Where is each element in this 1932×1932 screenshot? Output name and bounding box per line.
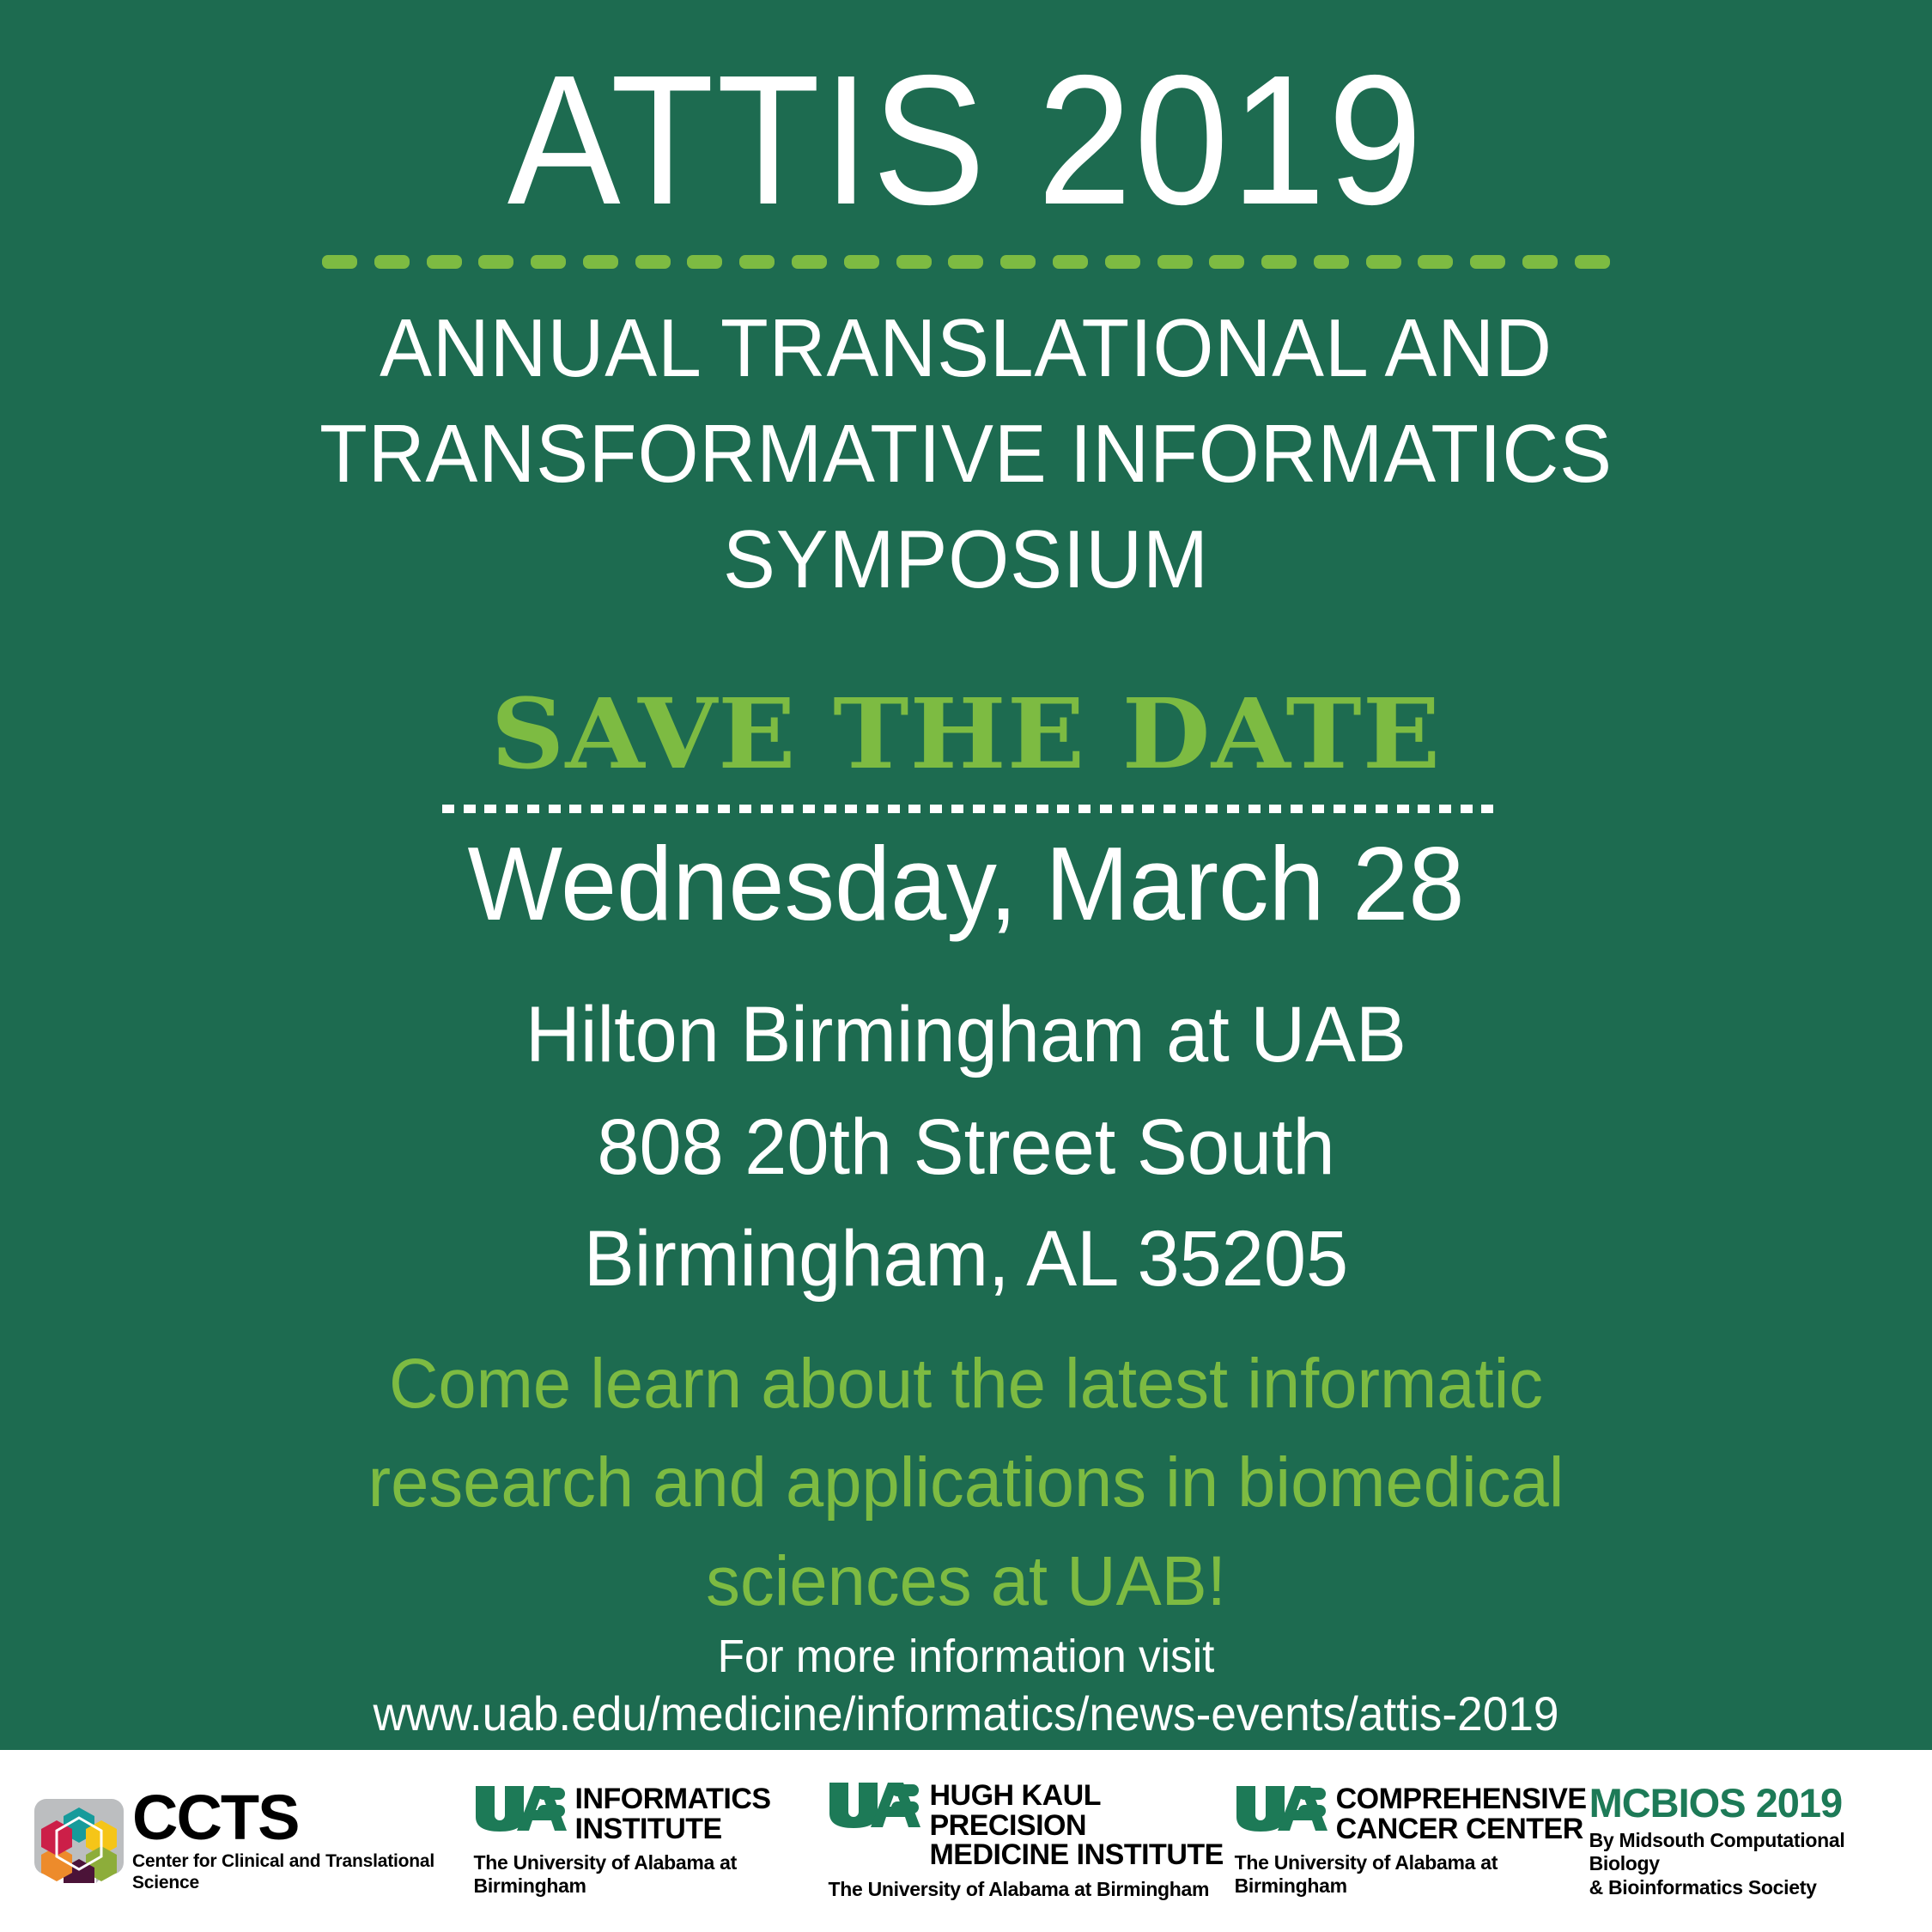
poster-green-panel: ATTIS 2019 ANNUAL TRANSLATIONAL AND TRAN… <box>0 0 1932 1750</box>
uab-hugh-kaul-name-line-1: HUGH KAUL PRECISION <box>929 1781 1234 1840</box>
save-the-date-poster: ATTIS 2019 ANNUAL TRANSLATIONAL AND TRAN… <box>0 0 1932 1932</box>
venue-street: 808 20th Street South <box>39 1091 1893 1204</box>
uab-wordmark-icon <box>1235 1784 1327 1832</box>
more-information-block: For more information visit www.uab.edu/m… <box>48 1630 1884 1746</box>
event-date: Wednesday, March 28 <box>39 829 1893 939</box>
uab-wordmark-icon <box>828 1781 920 1829</box>
event-subtitle: ANNUAL TRANSLATIONAL AND TRANSFORMATIVE … <box>48 296 1884 613</box>
save-the-date-dotted-divider <box>442 805 1494 813</box>
page-title: ATTIS 2019 <box>77 47 1855 232</box>
event-subtitle-line-1: ANNUAL TRANSLATIONAL AND <box>48 296 1884 402</box>
mcbios-title: MCBIOS 2019 <box>1589 1783 1898 1823</box>
logo-uab-comprehensive-cancer-center: COMPREHENSIVE CANCER CENTER The Universi… <box>1235 1784 1589 1898</box>
more-information-label: For more information visit <box>48 1630 1884 1683</box>
logo-mcbios: MCBIOS 2019 By Midsouth Computational Bi… <box>1589 1783 1898 1899</box>
ccts-tagline: Center for Clinical and Translational Sc… <box>132 1850 474 1893</box>
mcbios-subtitle-line-2: & Bioinformatics Society <box>1589 1876 1898 1899</box>
uab-cancer-center-name-line-2: CANCER CENTER <box>1336 1814 1587 1844</box>
uab-cancer-center-tagline: The University of Alabama at Birmingham <box>1235 1851 1589 1898</box>
uab-informatics-name-line-1: INFORMATICS <box>575 1784 771 1814</box>
logo-uab-informatics-institute: INFORMATICS INSTITUTE The University of … <box>474 1784 829 1898</box>
uab-informatics-name-line-2: INSTITUTE <box>575 1814 771 1844</box>
promo-paragraph: Come learn about the latest informatic r… <box>216 1335 1716 1631</box>
logo-ccts: CCTS Center for Clinical and Translation… <box>34 1789 474 1893</box>
poster-header: ATTIS 2019 <box>0 47 1932 232</box>
event-subtitle-line-3: SYMPOSIUM <box>48 507 1884 613</box>
promo-line-1: Come learn about the latest informatic <box>216 1335 1716 1434</box>
logo-uab-hugh-kaul-precision-medicine-institute: HUGH KAUL PRECISION MEDICINE INSTITUTE T… <box>828 1781 1234 1901</box>
venue-name: Hilton Birmingham at UAB <box>39 979 1893 1091</box>
uab-hugh-kaul-name-line-2: MEDICINE INSTITUTE <box>929 1840 1234 1870</box>
uab-wordmark-icon <box>474 1784 567 1832</box>
ccts-acronym: CCTS <box>132 1789 474 1847</box>
uab-informatics-tagline: The University of Alabama at Birmingham <box>474 1851 829 1898</box>
sponsor-logo-bar: CCTS Center for Clinical and Translation… <box>0 1750 1932 1932</box>
uab-hugh-kaul-tagline: The University of Alabama at Birmingham <box>828 1878 1234 1901</box>
venue-block: Hilton Birmingham at UAB 808 20th Street… <box>39 979 1893 1315</box>
promo-line-2: research and applications in biomedical <box>216 1434 1716 1533</box>
venue-city-state-zip: Birmingham, AL 35205 <box>39 1203 1893 1315</box>
event-website-url[interactable]: www.uab.edu/medicine/informatics/news-ev… <box>48 1683 1884 1746</box>
mcbios-subtitle-line-1: By Midsouth Computational Biology <box>1589 1829 1898 1875</box>
save-the-date-heading: SAVE THE DATE <box>0 687 1932 783</box>
event-subtitle-line-2: TRANSFORMATIVE INFORMATICS <box>48 402 1884 507</box>
ccts-hexagon-icon <box>34 1799 124 1883</box>
title-dashed-divider <box>322 255 1610 269</box>
uab-cancer-center-name-line-1: COMPREHENSIVE <box>1336 1784 1587 1814</box>
promo-line-3: sciences at UAB! <box>216 1533 1716 1631</box>
